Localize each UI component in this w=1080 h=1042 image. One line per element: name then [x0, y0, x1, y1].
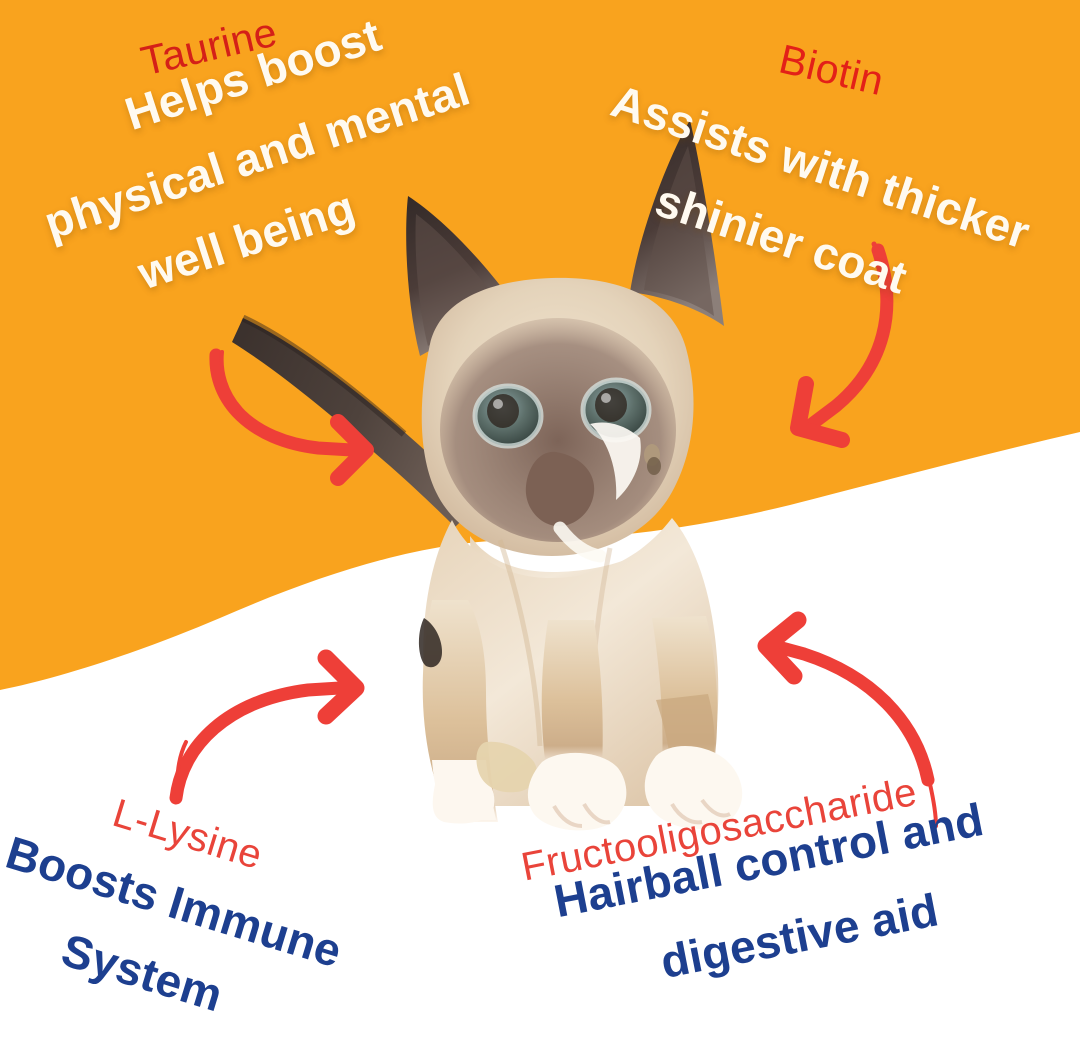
- benefit-text-taurine: Helps boost physical and mental well bei…: [120, 84, 564, 225]
- label-l-lysine: L-Lysine Boosts Immune System: [4, 792, 352, 927]
- infographic-canvas: Taurine Helps boost physical and mental …: [0, 0, 1080, 1042]
- label-taurine: Taurine Helps boost physical and mental …: [120, 42, 564, 225]
- label-biotin: Biotin Assists with thicker shinier coat: [612, 38, 1048, 174]
- label-fructooligosaccharide: Fructooligosaccharide Hairball control a…: [512, 848, 948, 983]
- benefit-text-fructooligosaccharide: Hairball control and digestive aid: [512, 889, 948, 983]
